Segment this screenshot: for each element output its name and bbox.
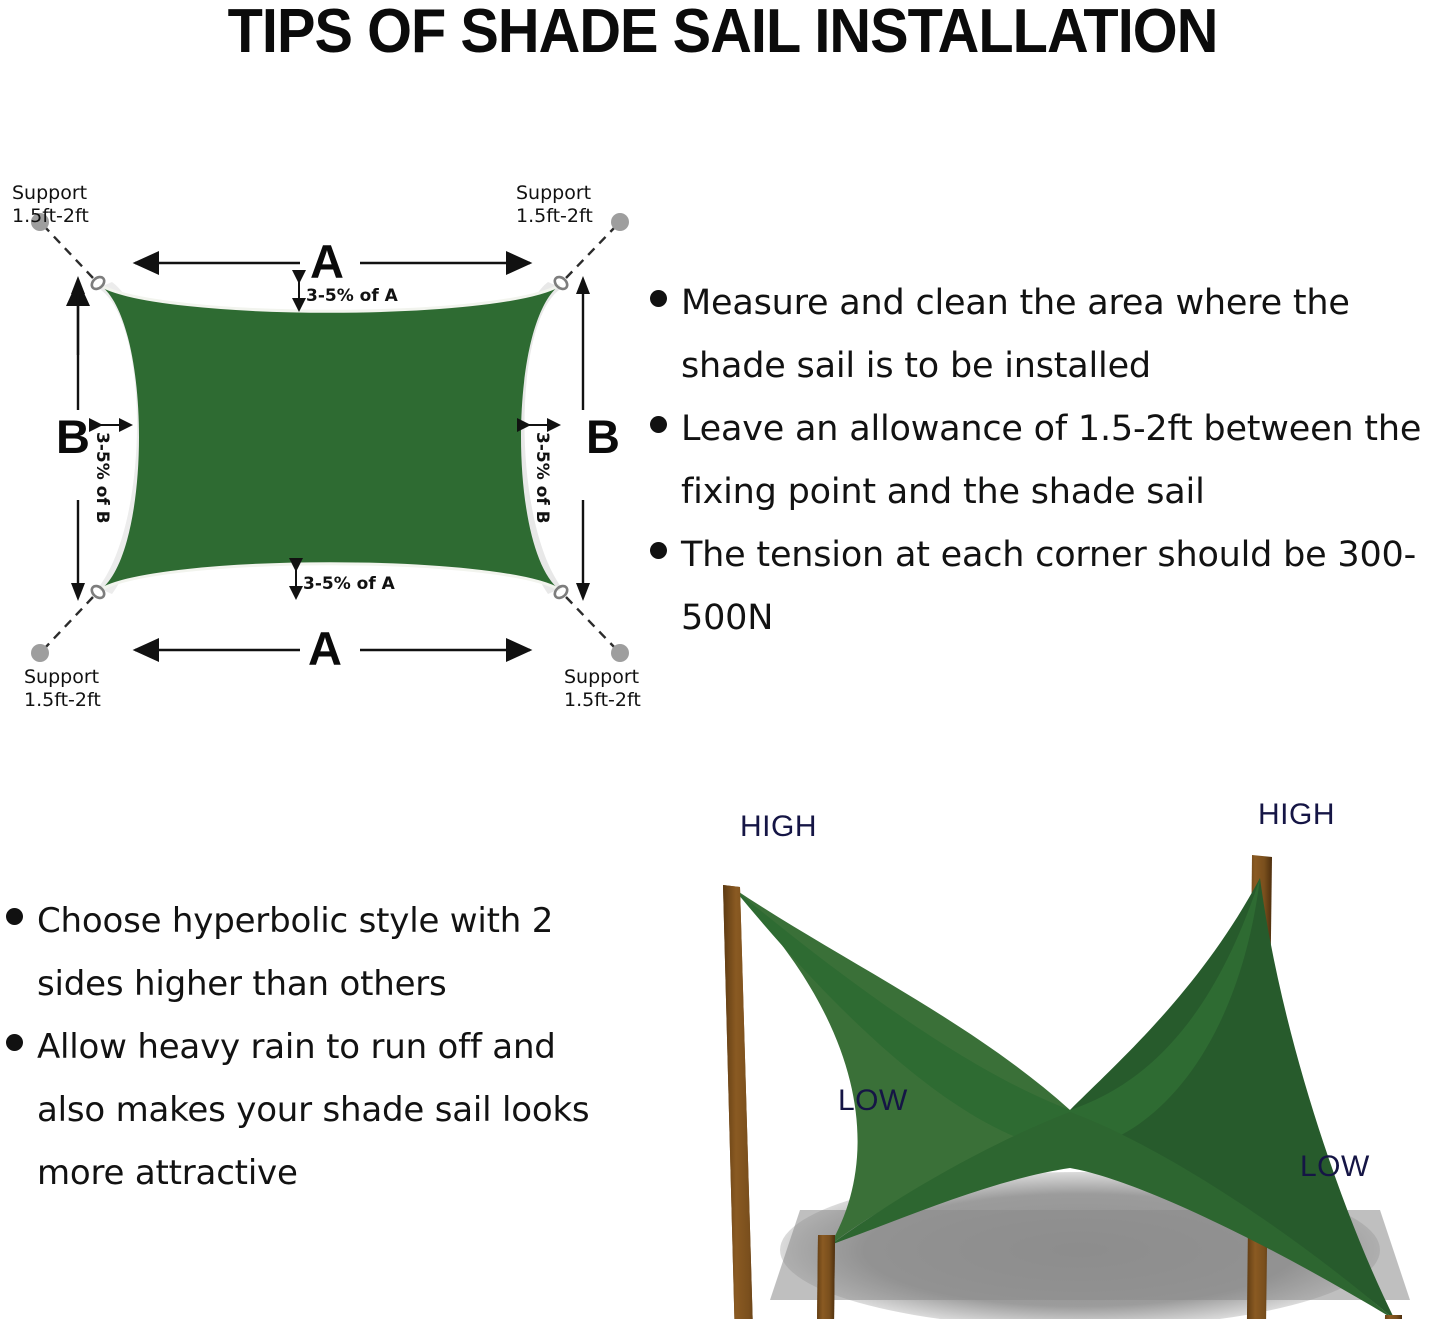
tip-text: The tension at each corner should be 300…	[681, 524, 1445, 650]
dimension-letter-b-right: B	[586, 413, 620, 460]
sail-body	[100, 285, 560, 590]
curvature-label-bottom: 3-5% of A	[303, 574, 395, 594]
support-label-top-left: Support 1.5ft-2ft	[12, 182, 89, 228]
list-item: Measure and clean the area where the sha…	[650, 272, 1445, 398]
dimension-letter-a-top: A	[310, 238, 344, 285]
support-label-line1: Support	[24, 666, 101, 689]
hyper-sail-svg	[640, 780, 1445, 1319]
tips-list-top: Measure and clean the area where the sha…	[650, 272, 1445, 650]
support-label-line2: 1.5ft-2ft	[24, 689, 101, 712]
curvature-label-top: 3-5% of A	[306, 286, 398, 306]
post-high-left-front	[723, 885, 760, 1319]
list-item: The tension at each corner should be 300…	[650, 524, 1445, 650]
bullet-dot-icon	[650, 290, 667, 307]
post-label-high-left: HIGH	[740, 810, 817, 844]
list-item: Choose hyperbolic style with 2 sides hig…	[6, 890, 621, 1016]
dimension-letter-a-bottom: A	[308, 625, 342, 672]
infographic-page: TIPS OF SHADE SAIL INSTALLATION	[0, 0, 1445, 1319]
support-label-bottom-right: Support 1.5ft-2ft	[564, 666, 641, 712]
bullet-dot-icon	[6, 1034, 23, 1051]
post-label-low-right: LOW	[1300, 1150, 1370, 1184]
post-low-right-front	[1383, 1315, 1402, 1319]
bullet-dot-icon	[650, 542, 667, 559]
dimension-letter-b-left: B	[56, 413, 90, 460]
tip-text: Allow heavy rain to run off and also mak…	[37, 1016, 621, 1205]
tip-text: Measure and clean the area where the sha…	[681, 272, 1445, 398]
bullet-dot-icon	[650, 416, 667, 433]
support-label-line1: Support	[12, 182, 89, 205]
page-title: TIPS OF SHADE SAIL INSTALLATION	[51, 0, 1395, 67]
tips-list-bottom: Choose hyperbolic style with 2 sides hig…	[6, 890, 621, 1205]
support-label-line1: Support	[564, 666, 641, 689]
support-label-line2: 1.5ft-2ft	[12, 205, 89, 228]
support-label-line2: 1.5ft-2ft	[564, 689, 641, 712]
rectangular-sail-diagram: Support 1.5ft-2ft Support 1.5ft-2ft Supp…	[0, 170, 660, 715]
support-label-line1: Support	[516, 182, 593, 205]
list-item: Leave an allowance of 1.5-2ft between th…	[650, 398, 1445, 524]
tip-text: Leave an allowance of 1.5-2ft between th…	[681, 398, 1445, 524]
curvature-label-left: 3-5% of B	[92, 432, 112, 524]
post-low-left-front	[816, 1235, 835, 1319]
tip-text: Choose hyperbolic style with 2 sides hig…	[37, 890, 621, 1016]
list-item: Allow heavy rain to run off and also mak…	[6, 1016, 621, 1205]
support-label-line2: 1.5ft-2ft	[516, 205, 593, 228]
hyperbolic-sail-diagram: HIGH HIGH LOW LOW	[640, 780, 1445, 1319]
support-label-bottom-left: Support 1.5ft-2ft	[24, 666, 101, 712]
support-label-top-right: Support 1.5ft-2ft	[516, 182, 593, 228]
bullet-dot-icon	[6, 908, 23, 925]
post-label-low-left: LOW	[838, 1084, 908, 1118]
post-label-high-right: HIGH	[1258, 798, 1335, 832]
curvature-label-right: 3-5% of B	[532, 432, 552, 524]
